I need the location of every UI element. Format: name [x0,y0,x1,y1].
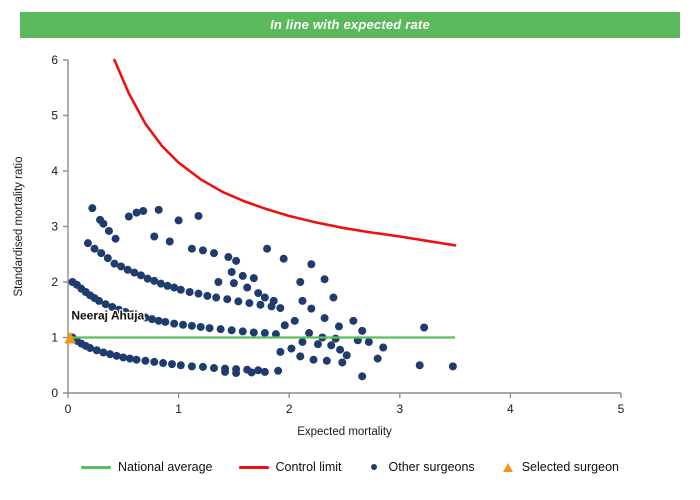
scatter-point[interactable] [263,245,271,253]
legend-dot-icon [368,461,382,473]
scatter-point[interactable] [97,249,105,257]
legend-triangle-icon [501,461,515,473]
scatter-point[interactable] [186,288,194,296]
scatter-point[interactable] [365,338,373,346]
legend-label: National average [118,460,213,474]
scatter-point[interactable] [329,294,337,302]
scatter-point[interactable] [214,278,222,286]
scatter-point[interactable] [133,356,141,364]
selected-surgeon-label: Neeraj Ahuja [71,309,144,323]
scatter-point[interactable] [332,335,340,343]
scatter-point[interactable] [228,268,236,276]
legend-selected-surgeon[interactable]: Selected surgeon [501,460,619,474]
scatter-point[interactable] [224,253,232,261]
y-tick-label: 2 [51,275,58,289]
axes: 0123456012345Expected mortalityStandardi… [13,53,625,438]
scatter-point[interactable] [141,357,149,365]
y-tick-label: 4 [51,164,58,178]
scatter-point[interactable] [298,297,306,305]
x-tick-label: 4 [507,402,514,416]
scatter-point[interactable] [197,323,205,331]
status-banner: In line with expected rate [20,12,680,38]
scatter-point[interactable] [298,338,306,346]
scatter-point[interactable] [99,220,107,228]
scatter-point[interactable] [343,351,351,359]
scatter-point[interactable] [291,317,299,325]
scatter-point[interactable] [305,329,313,337]
scatter-point[interactable] [99,348,107,356]
scatter-point[interactable] [150,358,158,366]
legend-label: Selected surgeon [522,460,619,474]
scatter-point[interactable] [379,343,387,351]
scatter-point[interactable] [239,327,247,335]
scatter-point[interactable] [199,363,207,371]
scatter-point[interactable] [139,207,147,215]
scatter-point[interactable] [155,206,163,214]
legend-label: Other surgeons [389,460,475,474]
scatter-point[interactable] [420,324,428,332]
scatter-point[interactable] [188,322,196,330]
scatter-point[interactable] [133,209,141,217]
y-tick-label: 0 [51,386,58,400]
scatter-point[interactable] [206,324,214,332]
scatter-point[interactable] [91,245,99,253]
y-tick-label: 5 [51,109,58,123]
scatter-point[interactable] [150,232,158,240]
scatter-point[interactable] [199,246,207,254]
scatter-point[interactable] [323,357,331,365]
scatter-point[interactable] [179,321,187,329]
scatter-point[interactable] [276,348,284,356]
scatter-point[interactable] [261,368,269,376]
scatter-point[interactable] [88,204,96,212]
scatter-point[interactable] [234,297,242,305]
scatter-point[interactable] [170,320,178,328]
scatter-point[interactable] [296,352,304,360]
scatter-point[interactable] [256,301,264,309]
y-tick-label: 1 [51,331,58,345]
scatter-point[interactable] [232,257,240,265]
scatter-point[interactable] [250,274,258,282]
legend-control-limit[interactable]: Control limit [239,460,342,474]
scatter-point[interactable] [112,235,120,243]
scatter-point[interactable] [230,279,238,287]
scatter-point[interactable] [321,275,329,283]
scatter-point[interactable] [336,346,344,354]
scatter-point[interactable] [335,322,343,330]
scatter-point[interactable] [239,272,247,280]
scatter-point[interactable] [177,361,185,369]
scatter-point[interactable] [164,282,172,290]
scatter-point[interactable] [254,289,262,297]
scatter-point[interactable] [228,326,236,334]
scatter-point[interactable] [296,278,304,286]
scatter-point[interactable] [349,317,357,325]
scatter-point[interactable] [374,355,382,363]
scatter-point[interactable] [358,327,366,335]
scatter-point[interactable] [177,286,185,294]
scatter-point[interactable] [168,360,176,368]
legend-other-surgeons[interactable]: Other surgeons [368,460,475,474]
scatter-point[interactable] [250,329,258,337]
scatter-point[interactable] [84,239,92,247]
scatter-point[interactable] [274,367,282,375]
scatter-point[interactable] [195,212,203,220]
scatter-point[interactable] [307,260,315,268]
scatter-point[interactable] [449,362,457,370]
y-tick-label: 6 [51,53,58,67]
chart-legend: National averageControl limitOther surge… [0,450,700,484]
scatter-point[interactable] [166,237,174,245]
scatter-point[interactable] [217,325,225,333]
scatter-point[interactable] [358,372,366,380]
scatter-point[interactable] [210,249,218,257]
scatter-point[interactable] [113,352,121,360]
y-tick-label: 3 [51,220,58,234]
scatter-point[interactable] [212,294,220,302]
scatter-point[interactable] [276,304,284,312]
x-tick-label: 5 [618,402,625,416]
x-tick-label: 2 [286,402,293,416]
scatter-point[interactable] [243,284,251,292]
x-tick-label: 0 [65,402,72,416]
scatter-point[interactable] [188,362,196,370]
scatter-point[interactable] [159,359,167,367]
scatter-point[interactable] [161,318,169,326]
legend-national-average[interactable]: National average [81,460,213,474]
scatter-point[interactable] [327,341,335,349]
legend-line-swatch [81,461,111,473]
scatter-point[interactable] [195,290,203,298]
annotations: Neeraj Ahuja [71,309,144,323]
data-series [64,60,456,380]
scatter-point[interactable] [188,245,196,253]
y-axis-title: Standardised mortality ratio [13,157,25,297]
scatter-point[interactable] [261,294,269,302]
x-tick-label: 1 [175,402,182,416]
scatter-point[interactable] [270,297,278,305]
scatter-point[interactable] [321,314,329,322]
x-tick-label: 3 [396,402,403,416]
scatter-point[interactable] [416,361,424,369]
scatter-point[interactable] [338,358,346,366]
legend-line-swatch [239,461,269,473]
chart-page: In line with expected rate 0123456012345… [0,0,700,500]
scatter-point[interactable] [261,329,269,337]
scatter-point[interactable] [148,315,156,323]
scatter-point[interactable] [210,364,218,372]
scatter-point[interactable] [203,292,211,300]
scatter-point[interactable] [125,213,133,221]
scatter-point[interactable] [223,295,231,303]
scatter-point[interactable] [245,299,253,307]
scatter-point[interactable] [307,305,315,313]
scatter-point[interactable] [281,321,289,329]
funnel-plot-container: 0123456012345Expected mortalityStandardi… [0,40,700,445]
scatter-point[interactable] [105,227,113,235]
scatter-point[interactable] [104,254,112,262]
scatter-point[interactable] [175,216,183,224]
scatter-point[interactable] [280,255,288,263]
scatter-point[interactable] [232,369,240,377]
scatter-point[interactable] [310,356,318,364]
scatter-point[interactable] [248,368,256,376]
funnel-plot-svg: 0123456012345Expected mortalityStandardi… [0,40,700,445]
scatter-point[interactable] [221,368,229,376]
x-axis-title: Expected mortality [297,426,392,438]
scatter-point[interactable] [287,345,295,353]
legend-label: Control limit [276,460,342,474]
control-limit-curve [114,60,455,245]
scatter-point[interactable] [314,340,322,348]
scatter-point[interactable] [106,350,114,358]
